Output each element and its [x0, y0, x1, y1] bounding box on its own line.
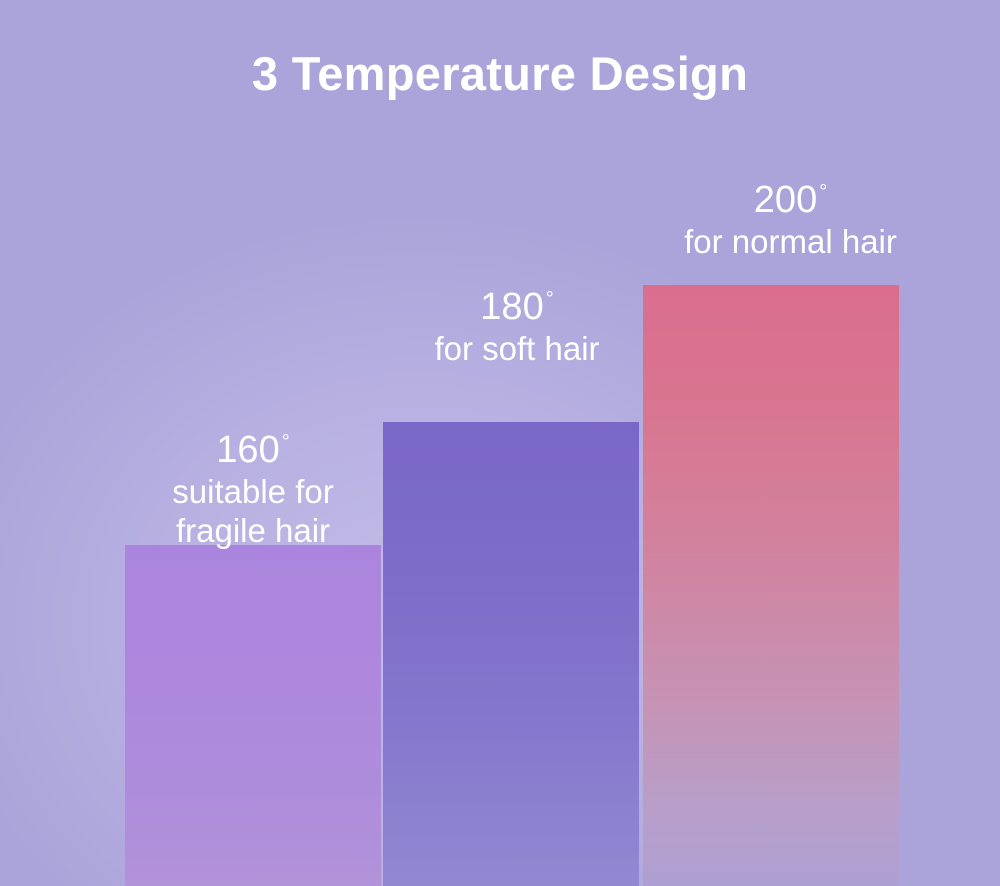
bar-160-temperature-value: 160	[216, 429, 279, 471]
bar-180-temperature-value: 180	[480, 286, 543, 328]
bar-180-degrees	[383, 422, 639, 886]
bar-160-description-line2: fragile hair	[128, 512, 378, 551]
degree-icon: °	[282, 431, 290, 453]
page-title: 3 Temperature Design	[0, 48, 1000, 100]
bar-200-temperature-value: 200	[754, 179, 817, 221]
bar-180-temperature: 180°	[392, 285, 642, 330]
temperature-design-poster: 3 Temperature Design 160° suitable for f…	[0, 0, 1000, 886]
bar-160-degrees	[125, 545, 381, 886]
bar-label-200: 200° for normal hair	[648, 178, 933, 262]
bar-200-temperature: 200°	[648, 178, 933, 223]
bar-label-180: 180° for soft hair	[392, 285, 642, 369]
bar-label-160: 160° suitable for fragile hair	[128, 428, 378, 551]
bar-180-description-line1: for soft hair	[392, 330, 642, 369]
bar-160-temperature: 160°	[128, 428, 378, 473]
degree-icon: °	[819, 181, 827, 203]
bar-200-degrees	[643, 285, 899, 886]
degree-icon: °	[546, 288, 554, 310]
bar-160-description-line1: suitable for	[128, 473, 378, 512]
bar-200-description-line1: for normal hair	[648, 223, 933, 262]
